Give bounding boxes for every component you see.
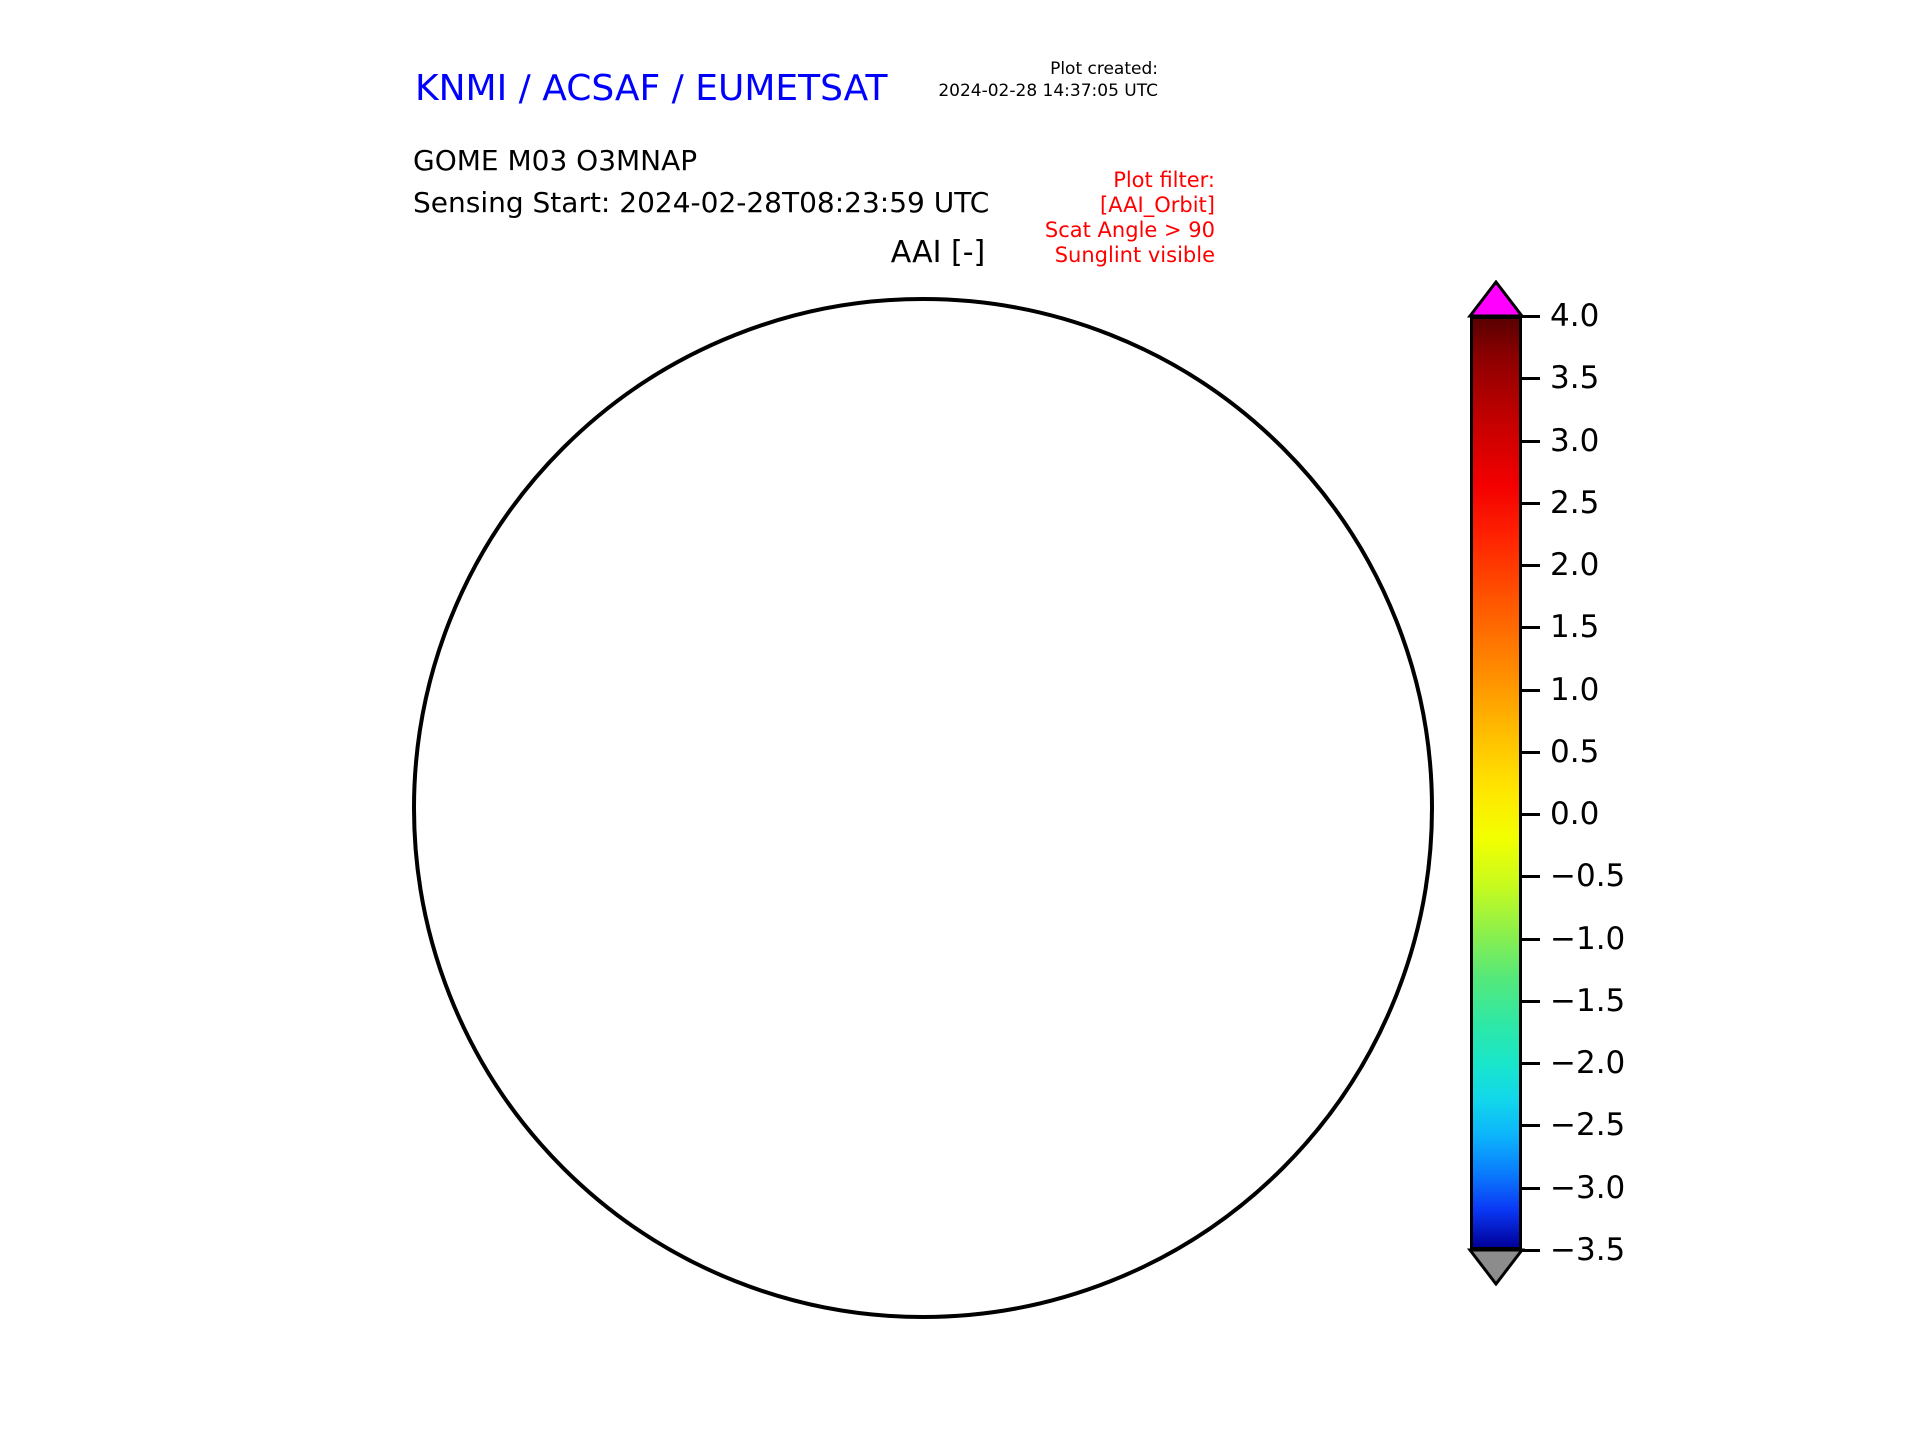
plot-filter-line-0: [AAI_Orbit] — [1045, 193, 1215, 218]
colorbar-tick-label: 3.0 — [1550, 423, 1599, 459]
sensing-start: Sensing Start: 2024-02-28T08:23:59 UTC — [413, 182, 989, 224]
colorbar-tick-label: −2.0 — [1550, 1045, 1625, 1081]
colorbar-gradient — [1470, 316, 1522, 1250]
colorbar-tick-mark — [1522, 1187, 1540, 1190]
quantity-title-text: AAI [-] — [891, 235, 986, 270]
colorbar-tick-mark — [1522, 377, 1540, 380]
colorbar-tick-mark — [1522, 440, 1540, 443]
colorbar-tick-mark — [1522, 751, 1540, 754]
colorbar-tick-mark — [1522, 502, 1540, 505]
plot-filter-line-1: Scat Angle > 90 — [1045, 218, 1215, 243]
colorbar-tick-label: −0.5 — [1550, 858, 1625, 894]
product-name: GOME M03 O3MNAP — [413, 140, 989, 182]
plot-filter-title: Plot filter: — [1045, 168, 1215, 193]
colorbar-tick-label: 1.0 — [1550, 672, 1599, 708]
plot-filter-block: Plot filter: [AAI_Orbit] Scat Angle > 90… — [1045, 168, 1215, 268]
colorbar-tick-mark — [1522, 564, 1540, 567]
colorbar-tick-label: 0.5 — [1550, 734, 1599, 770]
colorbar-tick-mark — [1522, 875, 1540, 878]
colorbar: 4.03.53.02.52.01.51.00.50.0−0.5−1.0−1.5−… — [1452, 282, 1752, 1342]
product-info-block: GOME M03 O3MNAP Sensing Start: 2024-02-2… — [413, 140, 989, 224]
colorbar-tick-label: −3.5 — [1550, 1232, 1625, 1268]
polar-map — [395, 280, 1455, 1340]
colorbar-tick-label: 2.0 — [1550, 547, 1599, 583]
colorbar-tick-label: 0.0 — [1550, 796, 1599, 832]
colorbar-tick-mark — [1522, 626, 1540, 629]
plot-created-label: Plot created: — [938, 58, 1158, 80]
plot-filter-line-2: Sunglint visible — [1045, 243, 1215, 268]
plot-created-timestamp: 2024-02-28 14:37:05 UTC — [938, 80, 1158, 102]
colorbar-tick-label: −1.5 — [1550, 983, 1625, 1019]
colorbar-tick-label: −3.0 — [1550, 1170, 1625, 1206]
colorbar-over-arrow-outline — [1466, 280, 1526, 318]
colorbar-under-arrow-outline — [1466, 1248, 1526, 1286]
colorbar-tick-mark — [1522, 1000, 1540, 1003]
colorbar-tick-label: 1.5 — [1550, 609, 1599, 645]
colorbar-tick-label: 2.5 — [1550, 485, 1599, 521]
colorbar-tick-label: 4.0 — [1550, 298, 1599, 334]
colorbar-tick-label: −1.0 — [1550, 921, 1625, 957]
organisation-title: KNMI / ACSAF / EUMETSAT — [415, 68, 887, 109]
colorbar-tick-mark — [1522, 813, 1540, 816]
colorbar-tick-label: 3.5 — [1550, 360, 1599, 396]
colorbar-tick-mark — [1522, 1124, 1540, 1127]
colorbar-tick-mark — [1522, 938, 1540, 941]
colorbar-tick-mark — [1522, 315, 1540, 318]
quantity-title: AAI [-] — [0, 235, 1920, 270]
colorbar-tick-mark — [1522, 689, 1540, 692]
colorbar-tick-mark — [1522, 1249, 1540, 1252]
colorbar-tick-label: −2.5 — [1550, 1107, 1625, 1143]
map-boundary-circle — [412, 297, 1434, 1319]
colorbar-tick-mark — [1522, 1062, 1540, 1065]
plot-created-block: Plot created: 2024-02-28 14:37:05 UTC — [938, 58, 1158, 102]
